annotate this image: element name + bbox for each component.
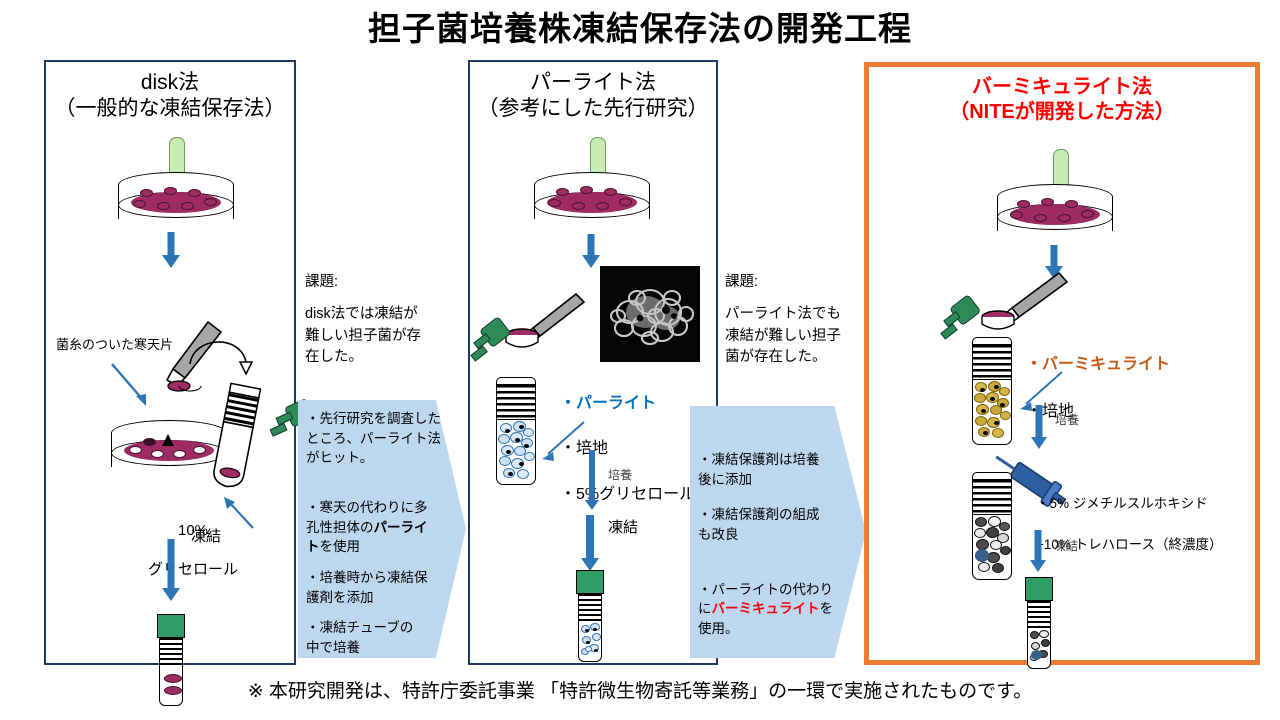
vermiculite-cryo-culture-tube-icon (972, 472, 1012, 580)
panel-perlite-title-line1: パーライト法 (470, 70, 716, 96)
improvement-2-3: ・パーライトの代わり にバーミキュライトを 使用。 (698, 560, 848, 638)
perlite-frozen-tube-icon (573, 570, 607, 662)
issue-2-label: 課題: (725, 272, 875, 294)
vermiculite-freeze-label: 凍結 (1054, 539, 1078, 554)
disk-glycerol-label: 10% グリセロール (138, 502, 248, 598)
vermiculite-cryoprotectant-line1: ・5% ジメチルスルホキシド (1036, 494, 1222, 514)
perlite-freeze-label: 凍結 (608, 518, 638, 537)
improvement-2-1: ・凍結保護剤は培養 後に添加 (698, 450, 848, 489)
perlite-culture-label: 培養 (608, 468, 632, 483)
issue-disk-to-perlite: 課題: disk法では凍結が 難しい担子菌が存 在した。 (305, 272, 457, 369)
issue-perlite-to-vermiculite: 課題: パーライト法でも 凍結が難しい担子 菌が存在した。 (725, 272, 875, 369)
issue-2-text: パーライト法でも 凍結が難しい担子 菌が存在した。 (725, 306, 841, 366)
vermiculite-frozen-tube-icon (1022, 577, 1056, 669)
vermiculite-arrow-freeze (1028, 530, 1048, 572)
improvements-chevron-1-text: ・先行研究を調査した ところ、パーライト法 がヒット。 ・寒天の代わりに多 孔性… (306, 409, 452, 657)
perlite-arrow-freeze (578, 515, 602, 571)
disk-petri-dish-icon (118, 172, 236, 234)
improvement-1-2: ・寒天の代わりに多 孔性担体のパーライ トを使用 (306, 479, 452, 557)
perlite-arrow-1 (581, 234, 601, 268)
issue-1-text: disk法では凍結が 難しい担子菌が存 在した。 (305, 306, 421, 366)
improvement-1-4: ・凍結チューブの 中で培養 (306, 618, 452, 657)
perlite-arrow-culture (583, 450, 601, 510)
improvements-chevron-2-text: ・凍結保護剤は培養 後に添加 ・凍結保護剤の組成 も改良 ・パーライトの代わり … (698, 450, 848, 639)
perlite-petri-dish-icon (534, 172, 652, 234)
panel-disk-title: disk法 （一般的な凍結保存法） (46, 70, 294, 123)
vermiculite-cryoprotectant-label: ・5% ジメチルスルホキシド +10% トレハロース（終濃度） (1036, 474, 1222, 575)
panel-disk-title-line2: （一般的な凍結保存法） (46, 96, 294, 122)
disk-freeze-label: 凍結 (191, 527, 221, 546)
panel-vermiculite-title-line1: バーミキュライト法 (869, 75, 1255, 100)
disk-cryotube-icon (206, 382, 272, 507)
footer-note: ※ 本研究開発は、特許庁委託事業 「特許微生物寄託等業務」の一環で実施されたもの… (0, 676, 1280, 703)
page-title: 担子菌培養株凍結保存法の開発工程 (0, 2, 1280, 50)
disk-agar-label: 菌糸のついた寒天片 (56, 337, 173, 354)
panel-perlite-title-line2: （参考にした先行研究） (470, 96, 716, 122)
improvement-1-2-post: を使用 (320, 539, 361, 554)
issue-1-label: 課題: (305, 272, 457, 294)
improvement-1-1: ・先行研究を調査した ところ、パーライト法 がヒット。 (306, 409, 452, 468)
vermiculite-culture-tube-icon (972, 337, 1012, 445)
panel-perlite-title: パーライト法 （参考にした先行研究） (470, 70, 716, 123)
perlite-bullet-perlite: ・パーライト (560, 393, 695, 416)
improvement-1-3: ・培養時から凍結保 護剤を添加 (306, 568, 452, 607)
perlite-sem-micrograph (600, 266, 700, 362)
slide-canvas: 担子菌培養株凍結保存法の開発工程 disk法 （一般的な凍結保存法） 菌糸のつい… (0, 0, 1280, 720)
disk-arrow-freeze (160, 539, 182, 601)
panel-disk-method: disk法 （一般的な凍結保存法） 菌糸のついた寒天片 (44, 60, 296, 665)
perlite-culture-tube-icon (496, 377, 536, 485)
vermiculite-petri-dish-icon (997, 184, 1115, 246)
perlite-bullet-glycerol: ・5%グリセロール (560, 484, 695, 507)
panel-vermiculite-title: バーミキュライト法 （NITEが開発した方法） (869, 75, 1255, 125)
panel-vermiculite-title-line2: （NITEが開発した方法） (869, 100, 1255, 125)
disk-agar-pointer-arrow (108, 360, 158, 412)
improvement-2-2: ・凍結保護剤の組成 も改良 (698, 505, 848, 544)
panel-disk-title-line1: disk法 (46, 70, 294, 96)
improvement-2-3-bold: バーミキュライト (712, 601, 820, 616)
disk-glycerol-label-line2: グリセロール (138, 560, 248, 579)
vermiculite-arrow-culture (1029, 405, 1049, 449)
vermiculite-culture-label: 培養 (1055, 413, 1079, 428)
disk-arrow-1 (161, 232, 181, 268)
